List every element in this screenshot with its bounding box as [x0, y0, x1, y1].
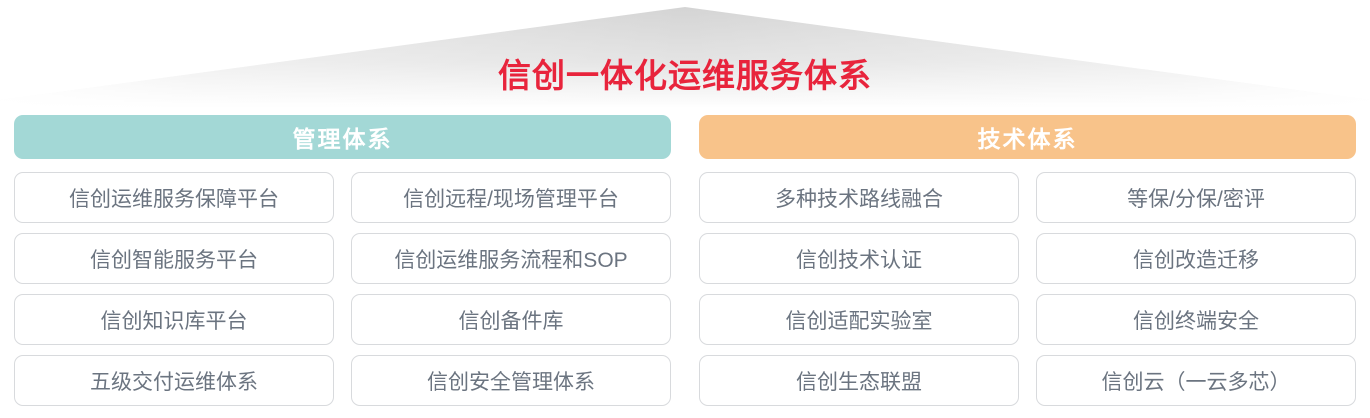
- panel-management: 管理体系 信创运维服务保障平台 信创远程/现场管理平台 信创智能服务平台 信创运…: [0, 115, 685, 418]
- list-item[interactable]: 等保/分保/密评: [1036, 172, 1356, 223]
- list-item[interactable]: 信创远程/现场管理平台: [351, 172, 671, 223]
- list-item[interactable]: 信创备件库: [351, 294, 671, 345]
- list-item[interactable]: 信创云（一云多芯）: [1036, 355, 1356, 406]
- page-title: 信创一体化运维服务体系: [0, 56, 1370, 96]
- panel-technology: 技术体系 多种技术路线融合 等保/分保/密评 信创技术认证 信创改造迁移 信创适…: [685, 115, 1370, 418]
- list-item[interactable]: 信创生态联盟: [699, 355, 1019, 406]
- panel-header-management: 管理体系: [14, 115, 671, 159]
- list-item[interactable]: 信创智能服务平台: [14, 233, 334, 284]
- list-item[interactable]: 信创改造迁移: [1036, 233, 1356, 284]
- list-item[interactable]: 信创运维服务流程和SOP: [351, 233, 671, 284]
- list-item[interactable]: 信创技术认证: [699, 233, 1019, 284]
- list-item[interactable]: 信创知识库平台: [14, 294, 334, 345]
- panel-header-technology: 技术体系: [699, 115, 1356, 159]
- list-item[interactable]: 信创终端安全: [1036, 294, 1356, 345]
- list-item[interactable]: 信创安全管理体系: [351, 355, 671, 406]
- panel-grid-management: 信创运维服务保障平台 信创远程/现场管理平台 信创智能服务平台 信创运维服务流程…: [14, 172, 671, 406]
- list-item[interactable]: 五级交付运维体系: [14, 355, 334, 406]
- list-item[interactable]: 信创运维服务保障平台: [14, 172, 334, 223]
- list-item[interactable]: 多种技术路线融合: [699, 172, 1019, 223]
- panels-container: 管理体系 信创运维服务保障平台 信创远程/现场管理平台 信创智能服务平台 信创运…: [0, 115, 1370, 418]
- diagram-root: 信创一体化运维服务体系 管理体系 信创运维服务保障平台 信创远程/现场管理平台 …: [0, 0, 1370, 418]
- list-item[interactable]: 信创适配实验室: [699, 294, 1019, 345]
- panel-grid-technology: 多种技术路线融合 等保/分保/密评 信创技术认证 信创改造迁移 信创适配实验室 …: [699, 172, 1356, 406]
